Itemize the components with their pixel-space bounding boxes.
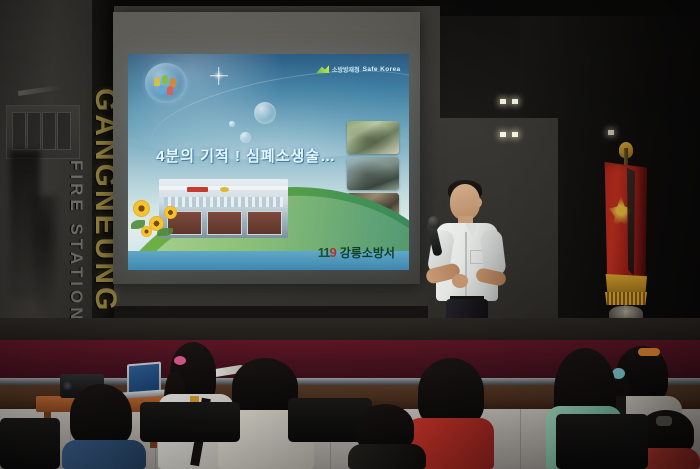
sparkle-icon	[212, 69, 225, 82]
presenter-shirt-placket	[465, 232, 467, 298]
flag-fringe	[605, 292, 647, 305]
safe-korea-english-text: Safe Korea	[363, 66, 401, 73]
gangneung-fire-station-logo: 119 강릉소방서	[318, 244, 395, 261]
wall-light-icon	[512, 132, 518, 137]
hair-clip-icon	[656, 416, 672, 426]
slide-title: 4분의 기적 ! 심폐소생술…	[156, 145, 336, 166]
slide-thumbnail-rescue-demonstration	[347, 157, 399, 190]
wall-light-icon	[608, 130, 614, 135]
safe-korea-mark-icon	[316, 65, 329, 73]
hair	[70, 384, 132, 446]
wall-light-icon	[500, 132, 506, 137]
safe-korea-logo: 소방방재청 Safe Korea	[316, 65, 401, 74]
microphone-head-icon	[428, 216, 440, 228]
logo-korean-name: 강릉소방서	[340, 244, 395, 261]
projected-slide: 소방방재청 Safe Korea 4분의 기적 ! 심폐소생술…	[128, 54, 409, 270]
chair-back	[556, 414, 648, 469]
venue-sign-fire-station: FIRE STATION	[66, 160, 86, 324]
wall-light-icon	[512, 99, 518, 104]
safe-korea-korean-text: 소방방재청	[332, 65, 360, 74]
presenter-hand	[452, 274, 468, 288]
child-front-left	[62, 384, 146, 469]
logo-number-119: 119	[318, 245, 336, 260]
flag-ribbon	[627, 168, 635, 276]
bubble-mascot-icon	[145, 63, 187, 103]
torso	[62, 440, 146, 469]
wall-shadow	[28, 195, 62, 315]
slide-thumbnail-cpr-training-outdoor	[347, 121, 399, 154]
bubble-icon	[254, 102, 276, 124]
hair-clip-icon	[174, 356, 186, 365]
hair-tie-icon	[638, 348, 660, 356]
presenter-ear	[476, 198, 482, 207]
photo-scene: GANGNEUNG FIRE STATION 소방방재청 Safe Korea	[0, 0, 700, 469]
chair-back	[140, 402, 240, 442]
chair-back	[0, 418, 60, 469]
slide-sunflowers	[131, 186, 198, 259]
child-dark-top	[348, 404, 426, 469]
hair	[418, 358, 484, 426]
torso	[348, 444, 426, 469]
wall-light-icon	[500, 99, 506, 104]
